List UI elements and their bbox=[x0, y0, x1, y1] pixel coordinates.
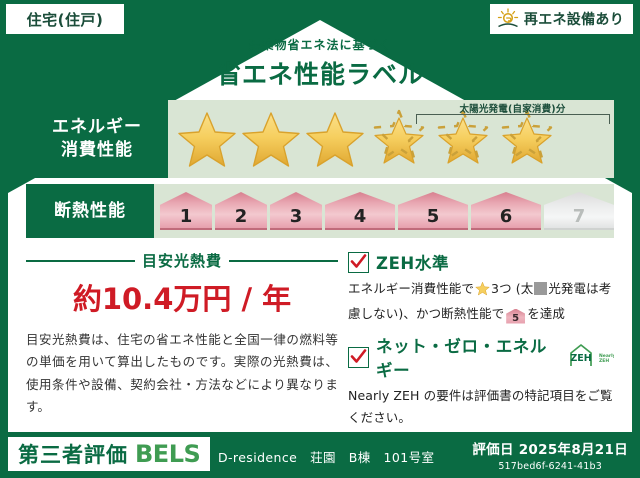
insulation-performance-label: 断熱性能 bbox=[26, 184, 154, 238]
svg-text:ZEH: ZEH bbox=[599, 358, 609, 364]
house-type-badge: 住宅(住戸) bbox=[6, 4, 124, 34]
cost-value: 約10.4万円 / 年 bbox=[26, 276, 338, 318]
lower-columns: 目安光熱費 約10.4万円 / 年 目安光熱費は、住宅の省エネ性能と全国一律の燃… bbox=[26, 250, 614, 437]
solar-portion-bracket bbox=[416, 114, 610, 124]
net-zero-energy-body: Nearly ZEH の要件は評価書の特記項目をご覧ください。 bbox=[348, 385, 614, 428]
insulation-level-2: 2 bbox=[215, 192, 267, 230]
renewable-energy-badge: 再エネ設備あり bbox=[490, 4, 633, 34]
evaluation-date: 評価日 2025年8月21日 bbox=[472, 438, 628, 458]
insulation-level-3: 3 bbox=[270, 192, 322, 230]
label-title: 建築物省エネ法に基づく 省エネ性能ラベル bbox=[0, 36, 640, 91]
cost-heading-text: 目安光熱費 bbox=[142, 250, 222, 271]
renewable-energy-label: 再エネ設備あり bbox=[524, 9, 624, 29]
zeh-standard-body: エネルギー消費性能で3つ (太光発電は考慮しない)、かつ断熱性能で5を達成 bbox=[348, 278, 614, 324]
star-icon-solid bbox=[240, 109, 302, 169]
title-subtitle: 建築物省エネ法に基づく bbox=[0, 36, 640, 53]
net-zero-energy-heading: ネット・ゼロ・エネルギー ZEH Nearly ZEH bbox=[348, 333, 614, 381]
star-icon-solid bbox=[304, 109, 366, 169]
net-zero-energy-title: ネット・ゼロ・エネルギー bbox=[376, 333, 558, 381]
house-type-label: 住宅(住戸) bbox=[27, 9, 104, 30]
zeh-standard-heading: ZEH水準 bbox=[348, 250, 614, 274]
energy-label-line2: 消費性能 bbox=[61, 139, 133, 162]
footer-bar: 第三者評価 BELS D-residence 荘園 B棟 101号室 評価日 2… bbox=[0, 432, 640, 478]
insulation-scale-area: 1 2 3 4 5 6 7 bbox=[154, 184, 614, 238]
insulation-performance-row: 断熱性能 1 2 3 4 5 6 7 bbox=[26, 184, 614, 238]
zeh-body-part1: エネルギー消費性能で bbox=[348, 281, 474, 296]
check-icon bbox=[348, 252, 369, 273]
cost-column: 目安光熱費 約10.4万円 / 年 目安光熱費は、住宅の省エネ性能と全国一律の燃… bbox=[26, 250, 338, 437]
label-content: エネルギー 消費性能 太陽光発電(自家消費)分 断熱性能 bbox=[26, 100, 614, 437]
energy-stars-area: 太陽光発電(自家消費)分 bbox=[168, 100, 614, 178]
title-main: 省エネ性能ラベル bbox=[0, 55, 640, 91]
insulation-label-text: 断熱性能 bbox=[54, 200, 126, 223]
criteria-column: ZEH水準 エネルギー消費性能で3つ (太光発電は考慮しない)、かつ断熱性能で5… bbox=[338, 250, 614, 437]
net-zero-energy-block: ネット・ゼロ・エネルギー ZEH Nearly ZEH Nearly ZEH の… bbox=[348, 333, 614, 428]
zeh-body-part4: を達成 bbox=[527, 306, 565, 321]
bels-en-label: BELS bbox=[135, 440, 200, 468]
check-icon bbox=[348, 347, 369, 368]
star-icon-solid bbox=[176, 109, 238, 169]
zeh-standard-block: ZEH水準 エネルギー消費性能で3つ (太光発電は考慮しない)、かつ断熱性能で5… bbox=[348, 250, 614, 324]
insulation-level-6: 6 bbox=[471, 192, 541, 230]
energy-label-line1: エネルギー bbox=[52, 116, 142, 139]
energy-performance-label: エネルギー 消費性能 bbox=[26, 100, 168, 178]
evaluation-info: 評価日 2025年8月21日 517bed6f-6241-41b3 bbox=[472, 438, 628, 472]
bels-jp-label: 第三者評価 bbox=[18, 439, 128, 469]
zeh-standard-title: ZEH水準 bbox=[376, 250, 449, 274]
sun-icon bbox=[496, 8, 520, 30]
insulation-level-4: 4 bbox=[325, 192, 395, 230]
insulation-level-7: 7 bbox=[544, 192, 614, 230]
cost-heading: 目安光熱費 bbox=[26, 250, 338, 271]
cost-rule-right bbox=[229, 260, 338, 262]
insulation-scale: 1 2 3 4 5 6 7 bbox=[154, 184, 614, 238]
cost-note: 目安光熱費は、住宅の省エネ性能と全国一律の燃料等の単価を用いて算出したものです。… bbox=[26, 329, 338, 418]
svg-text:ZEH: ZEH bbox=[570, 353, 591, 364]
zeh-body-part2: 3つ (太 bbox=[491, 281, 533, 296]
bels-badge: 第三者評価 BELS bbox=[8, 437, 210, 471]
insulation-level-1: 1 bbox=[160, 192, 212, 230]
cost-rule-left bbox=[26, 260, 135, 262]
insulation-level-5: 5 bbox=[398, 192, 468, 230]
solar-portion-note: 太陽光発電(自家消費)分 bbox=[415, 101, 610, 115]
zeh-logo-icon: ZEH Nearly ZEH bbox=[568, 342, 614, 372]
redacted-block bbox=[534, 282, 547, 295]
star-icon-inline bbox=[475, 281, 490, 303]
insulation-level-inline: 5 bbox=[506, 309, 525, 324]
label-root: 住宅(住戸) 再エネ設備あり 建築物省エネ法に基づく 省エネ性能ラベル bbox=[0, 0, 640, 478]
property-name: D-residence 荘園 B棟 101号室 bbox=[218, 447, 434, 466]
energy-performance-row: エネルギー 消費性能 太陽光発電(自家消費)分 bbox=[26, 100, 614, 178]
evaluation-id: 517bed6f-6241-41b3 bbox=[472, 461, 628, 472]
